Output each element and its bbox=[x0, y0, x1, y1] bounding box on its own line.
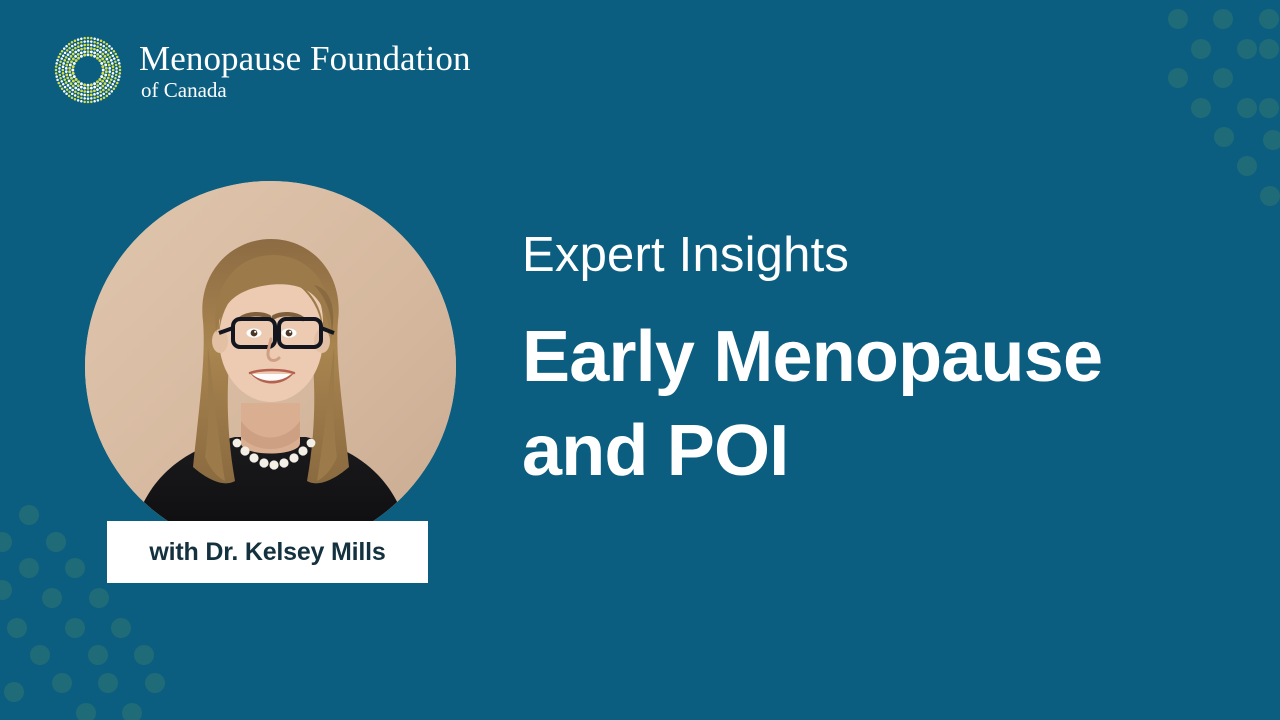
brand-wordmark: Menopause Foundation of Canada bbox=[139, 38, 471, 102]
dot-pattern-icon-top-right bbox=[1060, 0, 1280, 230]
dotted-ring-icon bbox=[52, 34, 124, 106]
brand-logo: Menopause Foundation of Canada bbox=[52, 34, 471, 106]
presenter-name-banner: with Dr. Kelsey Mills bbox=[107, 521, 428, 583]
presenter-name: with Dr. Kelsey Mills bbox=[149, 538, 385, 567]
series-eyebrow: Expert Insights bbox=[522, 226, 1222, 284]
page-title-line-2: and POI bbox=[522, 404, 1222, 498]
title-slide: Menopause Foundation of Canada bbox=[0, 0, 1280, 720]
brand-name-line1: Menopause Foundation bbox=[139, 40, 471, 78]
presenter-portrait bbox=[85, 181, 456, 552]
brand-name-line2: of Canada bbox=[139, 78, 471, 102]
page-title-line-1: Early Menopause bbox=[522, 310, 1222, 404]
title-text-block: Expert Insights Early Menopause and POI bbox=[522, 226, 1222, 498]
page-title: Early Menopause and POI bbox=[522, 310, 1222, 498]
